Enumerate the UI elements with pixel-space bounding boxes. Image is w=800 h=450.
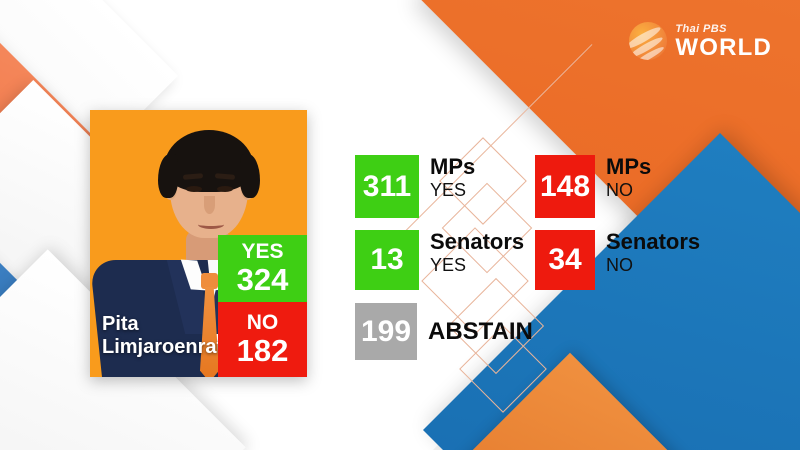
result-labels-senators-yes: Senators YES: [430, 230, 524, 275]
result-vote-senators-yes: YES: [430, 255, 524, 275]
result-row-senators-no: 34 Senators NO: [535, 230, 700, 290]
result-row-mps-no: 148 MPs NO: [535, 155, 651, 218]
channel-logo-text: Thai PBS WORLD: [675, 23, 772, 60]
result-row-abstain: 199 ABSTAIN: [355, 303, 533, 360]
channel-logo: Thai PBS WORLD: [629, 22, 772, 60]
sun-globe-icon: [629, 22, 667, 60]
result-count-mps-yes: 311: [355, 155, 419, 218]
result-group-abstain: ABSTAIN: [428, 320, 533, 344]
broadcast-graphic: Pita Limjaroenrat YES 324 NO 182 311 MPs…: [0, 0, 800, 450]
result-labels-mps-yes: MPs YES: [430, 155, 475, 200]
result-labels-abstain: ABSTAIN: [428, 320, 533, 344]
result-row-mps-yes: 311 MPs YES: [355, 155, 475, 218]
channel-logo-top: Thai PBS: [675, 23, 772, 35]
result-count-abstain: 199: [355, 303, 417, 360]
results-panel: 311 MPs YES 13 Senators YES 199 ABSTAIN …: [0, 0, 800, 450]
result-count-senators-no: 34: [535, 230, 595, 290]
channel-logo-bottom: WORLD: [675, 35, 772, 60]
result-group-mps-yes: MPs: [430, 155, 475, 179]
result-group-senators-no: Senators: [606, 230, 700, 254]
result-group-mps-no: MPs: [606, 155, 651, 179]
result-vote-senators-no: NO: [606, 255, 700, 275]
result-vote-mps-no: NO: [606, 180, 651, 200]
result-count-senators-yes: 13: [355, 230, 419, 290]
result-labels-senators-no: Senators NO: [606, 230, 700, 275]
result-group-senators-yes: Senators: [430, 230, 524, 254]
result-count-mps-no: 148: [535, 155, 595, 218]
result-labels-mps-no: MPs NO: [606, 155, 651, 200]
result-vote-mps-yes: YES: [430, 180, 475, 200]
result-row-senators-yes: 13 Senators YES: [355, 230, 524, 290]
